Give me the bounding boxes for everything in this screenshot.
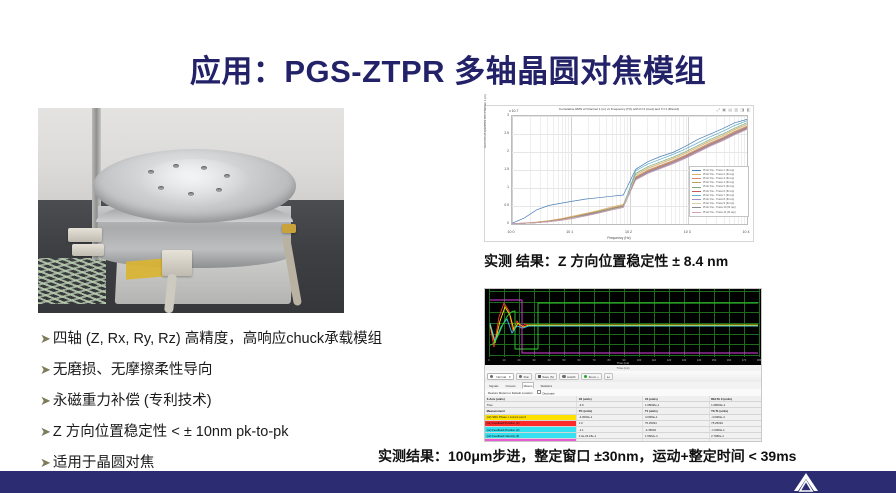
photo-bolt-hole: [224, 174, 230, 178]
legend-color-swatch: [692, 212, 701, 213]
photo-bolt-hole: [216, 188, 222, 192]
scope-tab-signals[interactable]: Signals: [488, 383, 499, 388]
y-tick-label: 1.5: [485, 167, 509, 171]
bullet-text: Z 方向位置稳定性 < ± 10nm pk-to-pk: [53, 420, 289, 441]
table-cell: Time: [485, 402, 577, 407]
list-item: ➤ 四轴 (Z, Rx, Ry, Rz) 高精度，高响应chuck承载模组: [40, 327, 460, 348]
legend-label: 25 Hz bw - Trace 8 (fit rep): [703, 198, 735, 201]
table-cell: 2.7080e-1: [710, 433, 762, 438]
photo-bolt-hole: [201, 166, 207, 170]
scope-trace: [490, 319, 758, 341]
x-tick-label: 10 0: [508, 230, 515, 234]
table-cell: -4.0000e-1: [577, 415, 643, 420]
scope-trace: [490, 300, 758, 353]
scope-plot-area: 0102030405060708090100110120130140150160…: [485, 289, 761, 365]
autofit-icon: [562, 375, 565, 378]
scope-trace: [490, 307, 758, 343]
table-cell: -1.0000e-1: [710, 427, 762, 432]
checkbox-icon: [537, 390, 542, 395]
table-header-cell: X-Axis (units): [485, 396, 577, 401]
legend-color-swatch: [692, 187, 701, 188]
legend-label: 25 Hz bw - Trace 10 (fit rep): [703, 206, 736, 209]
legend-color-swatch: [692, 174, 701, 175]
more-button[interactable]: ▸▪: [604, 373, 613, 381]
bullet-arrow-icon: ➤: [40, 456, 51, 469]
chart-toolbar-icons[interactable]: ⤢ ▣ ▤ ▥ ◨ ◧: [717, 107, 751, 112]
legend-color-swatch: [692, 199, 701, 200]
legend-item[interactable]: 25 Hz bw - Trace 1 (fit rep): [692, 168, 746, 172]
table-cell: -4.35002: [643, 427, 709, 432]
legend-color-swatch: [692, 203, 701, 204]
legend-item[interactable]: 25 Hz bw - Trace 7 (fit rep): [692, 194, 746, 198]
table-cell: -4.0000e-4: [710, 415, 762, 420]
company-logo-icon: [787, 471, 825, 493]
scope-top-label: Time (ms): [485, 366, 761, 370]
bullet-arrow-icon: ➤: [40, 394, 51, 407]
table-cell: 1.0: [577, 421, 643, 426]
x-tick-label: 10 2: [625, 230, 632, 234]
table-cell: (s2) Feedback Position (Z): [485, 427, 577, 432]
y-tick-label: 1: [485, 185, 509, 189]
legend-color-swatch: [692, 170, 701, 171]
table-cell: 1.08000e-1: [710, 402, 762, 407]
chart-y-exponent: x 10-7: [509, 109, 518, 113]
footer-bar: [0, 471, 896, 493]
table-cell: (s0) SRU Phase x current pos 0: [485, 415, 577, 420]
table-cell: 1.0700e-4: [577, 439, 643, 442]
restore-meters-link[interactable]: Restore Meters to Default Location: [488, 391, 533, 395]
save-button[interactable]: Save (S): [535, 373, 557, 381]
legend-item[interactable]: 25 Hz bw - Trace 2 (fit rep): [692, 173, 746, 177]
legend-color-swatch: [692, 191, 701, 192]
photo-bolt-hole: [158, 186, 164, 190]
scope-tab-meters[interactable]: Meters: [522, 382, 535, 389]
legend-item[interactable]: 25 Hz bw - Trace 11 (fit rep): [692, 210, 746, 214]
page-title: 应用：PGS-ZTPR 多轴晶圆对焦模组: [0, 46, 896, 91]
result-caption-stability: 实测 结果：Z 方向位置稳定性 ± 8.4 nm: [484, 251, 864, 271]
decimate-checkbox[interactable]: Decimate: [537, 390, 555, 396]
table-cell: 75.25034: [710, 421, 762, 426]
legend-item[interactable]: 25 Hz bw - Trace 4 (fit rep): [692, 181, 746, 185]
table-header-cell: Measurement: [485, 408, 577, 413]
scope-tab-cursors[interactable]: Cursors: [504, 383, 516, 388]
bullet-text: 无磨损、无摩擦柔性导向: [53, 358, 213, 379]
photo-bolt-hole: [148, 170, 154, 174]
table-cell: 1.5602e-4: [643, 433, 709, 438]
y-tick-label: 2: [485, 149, 509, 153]
table-header-cell: X1 (units): [643, 396, 709, 401]
gridline-horizontal: [512, 224, 747, 225]
legend-item[interactable]: 25 Hz bw - Trace 5 (fit rep): [692, 185, 746, 189]
table-header-cell: X0 (units): [577, 396, 643, 401]
chevron-down-icon: ▾: [509, 375, 511, 379]
legend-label: 25 Hz bw - Trace 3 (fit rep): [703, 177, 735, 180]
bullet-arrow-icon: ➤: [40, 425, 51, 438]
record-icon: [490, 375, 493, 378]
save-icon: [538, 375, 541, 378]
zoom-button[interactable]: Zoom +: [581, 373, 602, 381]
scope-software-panel: 0102030405060708090100110120130140150160…: [484, 288, 762, 442]
x-tick-label: 10 3: [684, 230, 691, 234]
legend-item[interactable]: 25 Hz bw - Trace 9 (fit rep): [692, 202, 746, 206]
photo-dsub-connector: [68, 228, 102, 242]
legend-color-swatch: [692, 182, 701, 183]
legend-color-swatch: [692, 207, 701, 208]
list-item: ➤ Z 方向位置稳定性 < ± 10nm pk-to-pk: [40, 420, 460, 441]
photo-dsub-connector: [72, 244, 104, 256]
y-tick-label: 2.5: [485, 131, 509, 135]
table-cell: 4.0e-04.18e-1: [577, 433, 643, 438]
list-item: ➤ 永磁重力补偿 (专利技术): [40, 389, 460, 410]
table-cell: 1.6780e-4: [643, 439, 709, 442]
legend-label: 25 Hz bw - Trace 2 (fit rep): [703, 173, 735, 176]
run-button[interactable]: Run: [516, 373, 532, 381]
legend-label: 25 Hz bw - Trace 1 (fit rep): [703, 169, 735, 172]
legend-item[interactable]: 25 Hz bw - Trace 3 (fit rep): [692, 177, 746, 181]
scope-trace-layer: [485, 289, 761, 365]
slide-root: 应用：PGS-ZTPR 多轴晶圆对焦模组 ➤ 四轴 (Z, Rx, Ry, Rz…: [0, 0, 896, 493]
cumulative-rms-chart: Cumulative RMS of Channel 1 (m) vs Frequ…: [484, 105, 754, 242]
table-row[interactable]: (s4) Position Error (Z)1.0700e-41.6780e-…: [485, 439, 761, 442]
photo-bolt-hole: [188, 192, 194, 196]
legend-label: 25 Hz bw - Trace 5 (fit rep): [703, 185, 735, 188]
hardware-photo: [38, 108, 344, 313]
table-cell: -2.7080e-1: [710, 439, 762, 442]
photo-wire-bundle: [38, 258, 106, 304]
play-icon: [519, 375, 522, 378]
legend-label: 25 Hz bw - Trace 6 (fit rep): [703, 190, 735, 193]
result-caption-step: 实测结果：100μm步进，整定窗口 ±30nm，运动+整定时间 < 39ms: [378, 446, 896, 466]
table-cell: (s4) Position Error (Z): [485, 439, 577, 442]
chart-y-axis-label: cum rms of openPR1 ch1 Channel 1 (m): [483, 94, 487, 148]
table-cell: 75.25034: [643, 421, 709, 426]
bullet-arrow-icon: ➤: [40, 363, 51, 376]
table-cell: (s1) Feedback Position (Z): [485, 421, 577, 426]
legend-label: 25 Hz bw - Trace 7 (fit rep): [703, 194, 735, 197]
x-tick-label: 10 4: [743, 230, 750, 234]
table-cell: -1.1: [577, 427, 643, 432]
photo-bolt-hole: [173, 164, 179, 168]
bullet-text: 四轴 (Z, Rx, Ry, Rz) 高精度，高响应chuck承载模组: [53, 327, 382, 348]
legend-label: 25 Hz bw - Trace 4 (fit rep): [703, 181, 735, 184]
table-cell: 1.08000e-1: [643, 402, 709, 407]
photo-dsub-connector: [162, 250, 192, 276]
table-cell: -3.0: [577, 402, 643, 407]
photo-yellow-tape: [126, 258, 166, 279]
y-tick-label: 0: [485, 221, 509, 225]
zoom-icon: [584, 375, 587, 378]
legend-item[interactable]: 25 Hz bw - Trace 10 (fit rep): [692, 206, 746, 210]
y-tick-label: 0.5: [485, 203, 509, 207]
scope-measurement-table[interactable]: X-Axis (units)X0 (units)X1 (units)DELTA …: [485, 396, 761, 442]
scope-tab-statistics[interactable]: Statistics: [539, 383, 553, 388]
table-cell: (s3) Feedback Velocity (Z): [485, 433, 577, 438]
source-select[interactable]: Normal ▾: [487, 373, 514, 381]
bullet-arrow-icon: ➤: [40, 332, 51, 345]
chart-title: Cumulative RMS of Channel 1 (m) vs Frequ…: [485, 107, 753, 111]
chart-x-axis-label: Frequency (Hz): [485, 236, 753, 240]
legend-item[interactable]: 25 Hz bw - Trace 6 (fit rep): [692, 189, 746, 193]
table-cell: 4.0000e-1: [643, 415, 709, 420]
table-header-cell: PC (units): [577, 408, 643, 413]
chart-legend[interactable]: 25 Hz bw - Trace 1 (fit rep)25 Hz bw - T…: [689, 166, 749, 217]
legend-label: 25 Hz bw - Trace 9 (fit rep): [703, 202, 735, 205]
legend-item[interactable]: 25 Hz bw - Trace 8 (fit rep): [692, 198, 746, 202]
list-item: ➤ 无磨损、无摩擦柔性导向: [40, 358, 460, 379]
table-header-cell: T1 (units): [643, 408, 709, 413]
legend-color-swatch: [692, 178, 701, 179]
photo-chuck-top: [93, 149, 296, 223]
table-header-cell: DELTA X (units): [710, 396, 762, 401]
table-header-cell: T0-T1 (units): [710, 408, 762, 413]
bullet-text: 适用于晶圆对焦: [53, 451, 155, 472]
bullet-text: 永磁重力补偿 (专利技术): [53, 389, 212, 410]
legend-label: 25 Hz bw - Trace 11 (fit rep): [703, 211, 736, 214]
autofit-button[interactable]: Autofit: [559, 373, 578, 381]
x-tick-label: 10 1: [566, 230, 573, 234]
y-tick-label: 3: [485, 113, 509, 117]
legend-color-swatch: [692, 195, 701, 196]
photo-pneumatic-fitting: [282, 224, 296, 233]
